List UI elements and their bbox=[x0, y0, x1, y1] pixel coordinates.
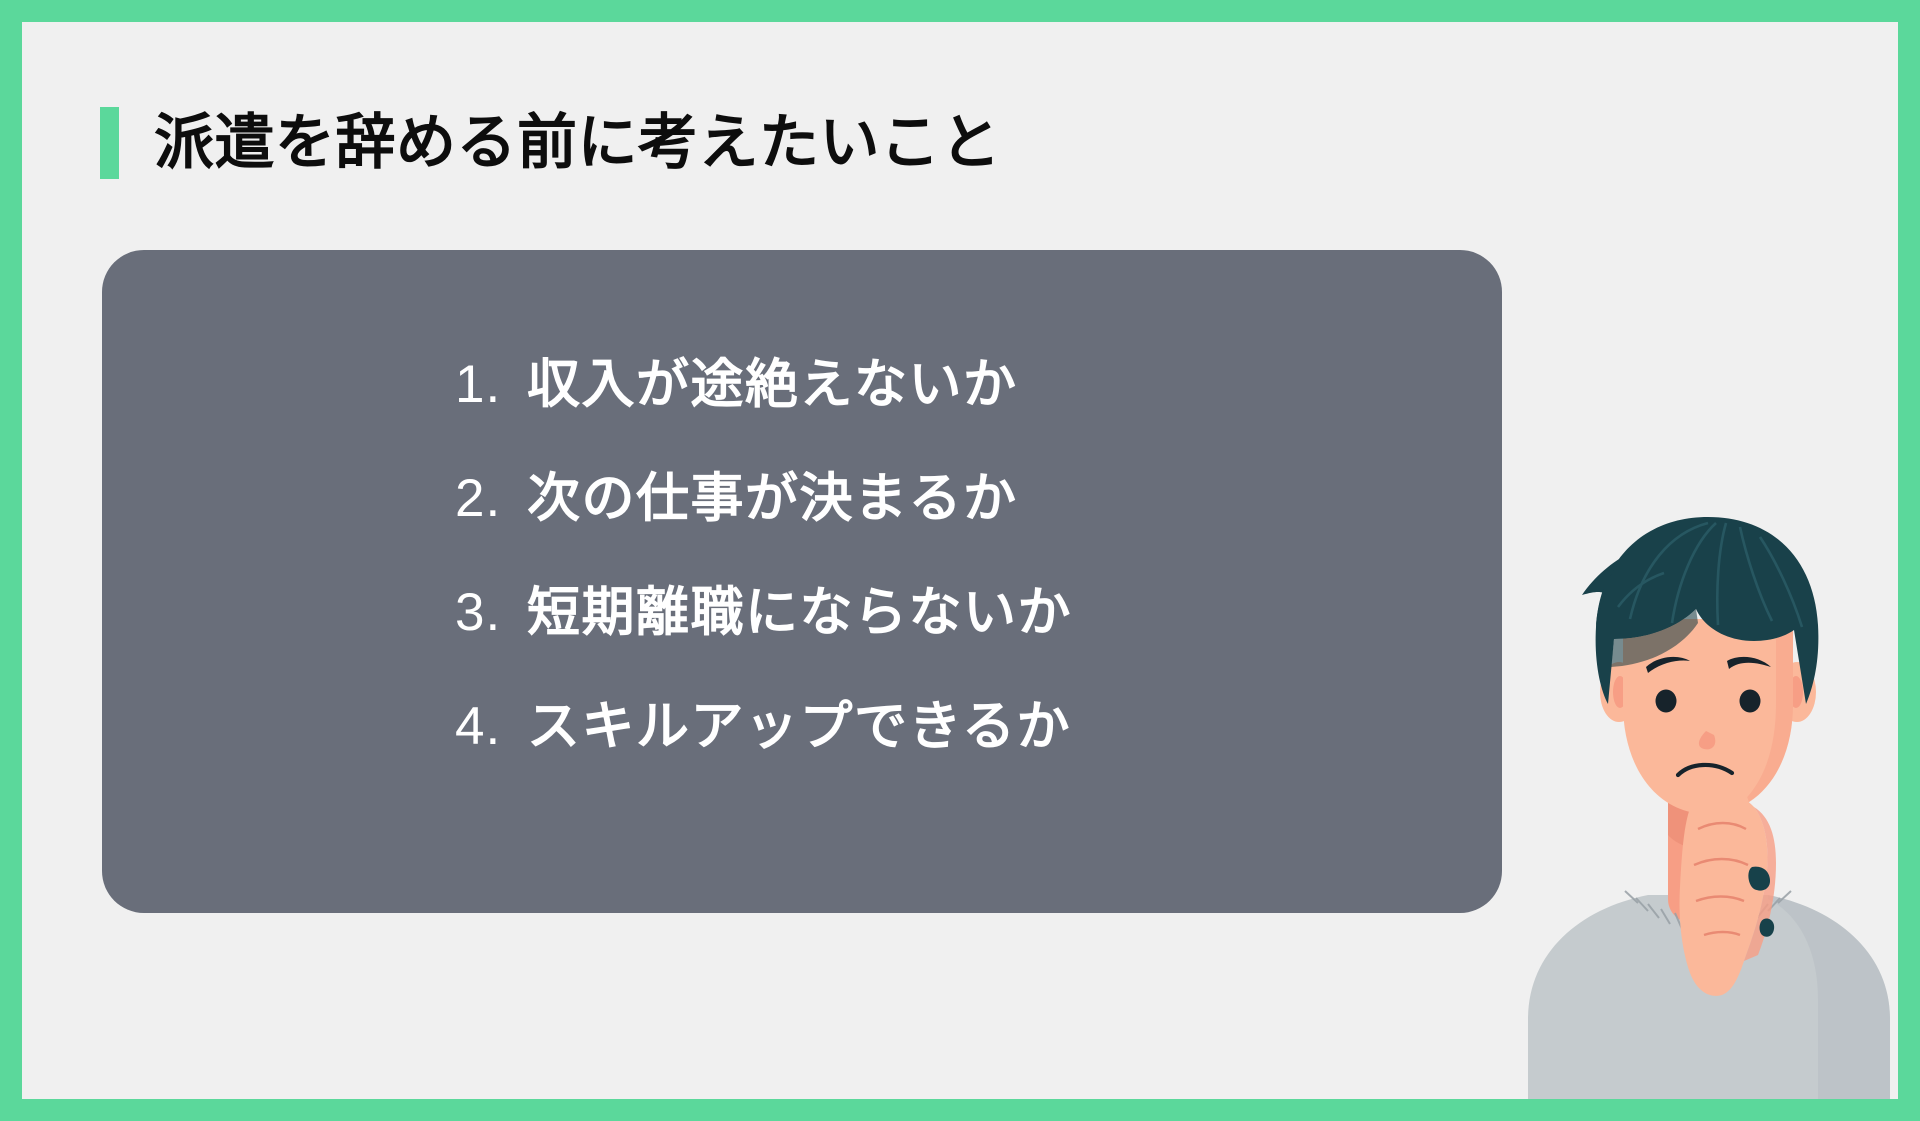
sweater-shape bbox=[1528, 895, 1890, 1099]
eyebrows-shape bbox=[1646, 657, 1771, 673]
eyes-shape bbox=[1656, 690, 1761, 713]
list-item: 3. 短期離職にならないか bbox=[102, 586, 1502, 700]
list-item-number: 3. bbox=[455, 586, 527, 639]
slide-frame: 派遣を辞める前に考えたいこと 1. 収入が途絶えないか 2. 次の仕事が決まるか… bbox=[0, 0, 1920, 1121]
title-accent-bar bbox=[100, 107, 119, 179]
list-item-label: 次の仕事が決まるか bbox=[527, 472, 1018, 525]
ears-shape bbox=[1600, 662, 1816, 722]
list-item: 2. 次の仕事が決まるか bbox=[102, 472, 1502, 586]
list-item-number: 1. bbox=[455, 358, 527, 411]
list-item: 4. スキルアップできるか bbox=[102, 700, 1502, 814]
nose-shape bbox=[1699, 731, 1715, 749]
list-item-number: 2. bbox=[455, 472, 527, 525]
collar-ribbing bbox=[1625, 891, 1791, 935]
hair-shape bbox=[1582, 517, 1818, 704]
mouth-shape bbox=[1678, 765, 1732, 775]
page-title-row: 派遣を辞める前に考えたいこと bbox=[100, 97, 1001, 189]
list-item-label: スキルアップできるか bbox=[527, 700, 1071, 753]
neck-shape bbox=[1668, 799, 1748, 927]
slide-canvas: 派遣を辞める前に考えたいこと 1. 収入が途絶えないか 2. 次の仕事が決まるか… bbox=[22, 22, 1898, 1099]
list-item: 1. 収入が途絶えないか bbox=[102, 358, 1502, 472]
page-title: 派遣を辞める前に考えたいこと bbox=[154, 113, 1001, 173]
list-item-label: 短期離職にならないか bbox=[527, 586, 1072, 639]
list-item-number: 4. bbox=[455, 700, 527, 753]
list-item-label: 収入が途絶えないか bbox=[527, 358, 1018, 411]
hand-shape bbox=[1679, 785, 1776, 996]
face-shape bbox=[1623, 619, 1793, 814]
considerations-list: 1. 収入が途絶えないか 2. 次の仕事が決まるか 3. 短期離職にならないか … bbox=[102, 250, 1502, 913]
thinking-man-illustration bbox=[1518, 499, 1898, 1099]
considerations-card: 1. 収入が途絶えないか 2. 次の仕事が決まるか 3. 短期離職にならないか … bbox=[102, 250, 1502, 913]
